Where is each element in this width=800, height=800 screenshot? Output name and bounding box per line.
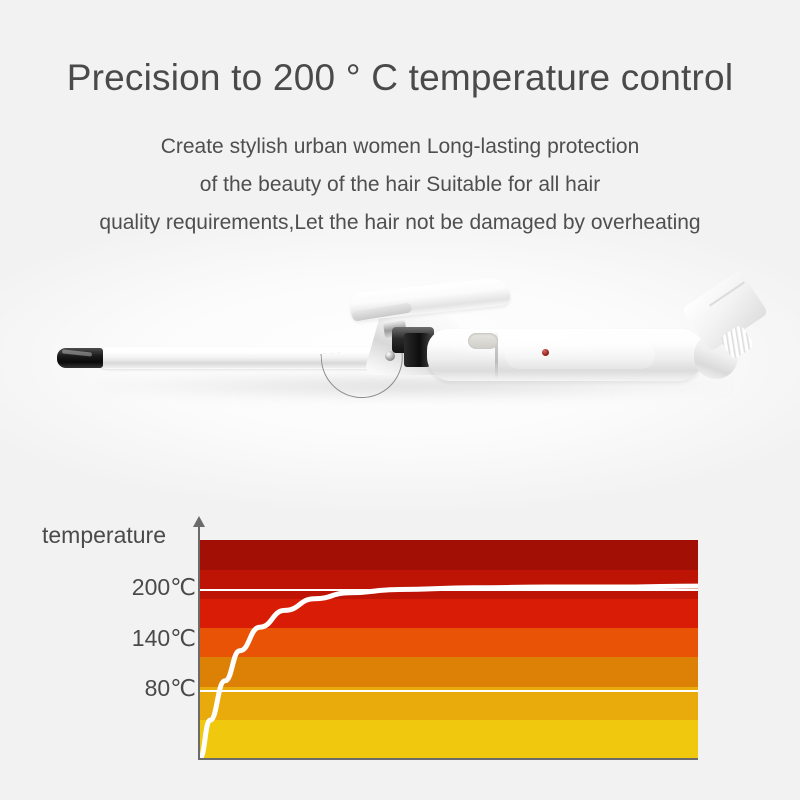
product-handle-highlight [505,341,655,369]
subtitle-line-1: Create stylish urban women Long-lasting … [0,128,800,166]
product-indicator-light [542,349,549,356]
product-strap-stud [385,351,395,361]
subtitle-block: Create stylish urban women Long-lasting … [0,128,800,242]
y-tick-140: 140℃ [132,625,196,652]
y-axis-ticks: 200℃ 140℃ 80℃ [0,500,196,770]
subtitle-line-3: quality requirements,Let the hair not be… [0,204,800,242]
page-title: Precision to 200 ° C temperature control [0,57,800,99]
subtitle-line-2: of the beauty of the hair Suitable for a… [0,166,800,204]
heatup-curve-path [200,586,698,758]
promo-page: Precision to 200 ° C temperature control… [0,0,800,800]
temperature-chart: temperature 200℃ 140℃ 80℃ [0,500,800,800]
chart-plot-area [200,540,698,758]
y-tick-80: 80℃ [145,675,196,702]
y-tick-200: 200℃ [132,574,196,601]
x-axis-line [198,758,698,760]
heatup-curve [200,540,698,758]
product-image [0,255,800,455]
product-power-switch [468,333,498,349]
